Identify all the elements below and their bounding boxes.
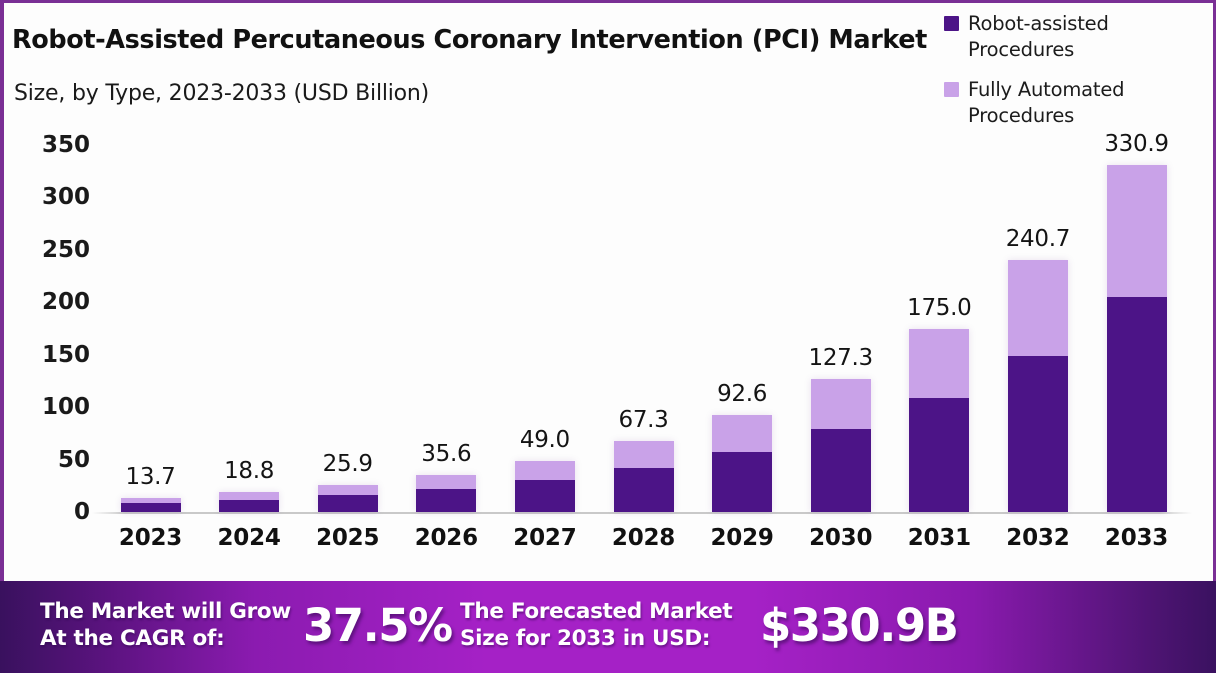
bar-segment-robot-assisted[interactable]: [614, 468, 674, 512]
bar-segment-robot-assisted[interactable]: [1107, 297, 1167, 512]
cagr-value: 37.5%: [303, 599, 452, 652]
bar-group[interactable]: 92.62029: [693, 3, 792, 569]
bar-group[interactable]: 175.02031: [890, 3, 989, 569]
forecast-caption: The Forecasted MarketSize for 2033 in US…: [460, 598, 732, 652]
stacked-bar[interactable]: [614, 441, 674, 512]
bar-segment-fully-automated[interactable]: [1107, 165, 1167, 296]
bar-segment-fully-automated[interactable]: [318, 485, 378, 495]
bar-group[interactable]: 67.32028: [594, 3, 693, 569]
y-axis-tick: 150: [18, 342, 90, 368]
bar-segment-robot-assisted[interactable]: [515, 480, 575, 512]
bar-value-label: 330.9: [1104, 131, 1168, 157]
x-axis-tick: 2023: [119, 525, 182, 551]
stacked-bar[interactable]: [1107, 165, 1167, 512]
x-axis-tick: 2024: [217, 525, 280, 551]
y-axis-tick: 50: [18, 447, 90, 473]
bar-segment-robot-assisted[interactable]: [1008, 356, 1068, 512]
bar-segment-fully-automated[interactable]: [614, 441, 674, 468]
bar-value-label: 67.3: [618, 407, 668, 433]
stacked-bar[interactable]: [515, 461, 575, 512]
y-axis-tick: 0: [18, 499, 90, 525]
bar-group[interactable]: 25.92025: [298, 3, 397, 569]
stacked-bar[interactable]: [811, 379, 871, 512]
x-axis-tick: 2031: [908, 525, 971, 551]
bar-segment-robot-assisted[interactable]: [219, 500, 279, 512]
bar-value-label: 127.3: [809, 345, 873, 371]
bar-segment-fully-automated[interactable]: [712, 415, 772, 452]
bar-segment-robot-assisted[interactable]: [121, 503, 181, 512]
bar-value-label: 35.6: [421, 441, 471, 467]
bar-segment-fully-automated[interactable]: [219, 492, 279, 499]
bar-segment-robot-assisted[interactable]: [318, 495, 378, 512]
bar-segment-robot-assisted[interactable]: [909, 398, 969, 512]
bar-value-label: 18.8: [224, 458, 274, 484]
bar-segment-robot-assisted[interactable]: [811, 429, 871, 512]
chart-plot-area: 050100150200250300350 13.7202318.8202425…: [4, 3, 1216, 569]
x-axis-tick: 2025: [316, 525, 379, 551]
cagr-caption: The Market will GrowAt the CAGR of:: [40, 598, 291, 652]
y-axis-tick: 250: [18, 237, 90, 263]
bar-value-label: 240.7: [1006, 226, 1070, 252]
x-axis-tick: 2028: [612, 525, 675, 551]
bar-segment-robot-assisted[interactable]: [712, 452, 772, 512]
bar-group[interactable]: 35.62026: [397, 3, 496, 569]
x-axis-tick: 2026: [415, 525, 478, 551]
y-axis-tick: 200: [18, 289, 90, 315]
y-axis: 050100150200250300350: [4, 3, 90, 569]
x-axis-tick: 2029: [710, 525, 773, 551]
summary-banner: The Market will GrowAt the CAGR of: 37.5…: [0, 581, 1216, 673]
stacked-bar[interactable]: [121, 498, 181, 512]
bar-segment-fully-automated[interactable]: [909, 329, 969, 399]
bar-value-label: 175.0: [907, 295, 971, 321]
bar-value-label: 13.7: [125, 464, 175, 490]
bar-segment-fully-automated[interactable]: [416, 475, 476, 489]
stacked-bar[interactable]: [712, 415, 772, 512]
infographic-root: Robot-Assisted Percutaneous Coronary Int…: [0, 0, 1216, 670]
bar-value-label: 25.9: [323, 451, 373, 477]
bar-group[interactable]: 330.92033: [1087, 3, 1186, 569]
bar-group[interactable]: 49.02027: [495, 3, 594, 569]
bar-group[interactable]: 18.82024: [200, 3, 299, 569]
stacked-bar[interactable]: [318, 485, 378, 512]
forecast-value: $330.9B: [760, 599, 957, 652]
stacked-bar[interactable]: [219, 492, 279, 512]
x-axis-tick: 2027: [513, 525, 576, 551]
stacked-bar[interactable]: [909, 329, 969, 513]
bar-value-label: 92.6: [717, 381, 767, 407]
bar-segment-fully-automated[interactable]: [811, 379, 871, 430]
bar-value-label: 49.0: [520, 427, 570, 453]
bar-segment-fully-automated[interactable]: [515, 461, 575, 481]
y-axis-tick: 350: [18, 132, 90, 158]
bar-group[interactable]: 127.32030: [791, 3, 890, 569]
stacked-bar[interactable]: [1008, 260, 1068, 512]
bar-group[interactable]: 240.72032: [988, 3, 1087, 569]
stacked-bar[interactable]: [416, 475, 476, 512]
bar-segment-fully-automated[interactable]: [1008, 260, 1068, 356]
bar-group[interactable]: 13.72023: [101, 3, 200, 569]
x-axis-tick: 2030: [809, 525, 872, 551]
x-axis-tick: 2033: [1105, 525, 1168, 551]
bar-segment-robot-assisted[interactable]: [416, 489, 476, 512]
y-axis-tick: 100: [18, 394, 90, 420]
x-axis-tick: 2032: [1006, 525, 1069, 551]
y-axis-tick: 300: [18, 184, 90, 210]
